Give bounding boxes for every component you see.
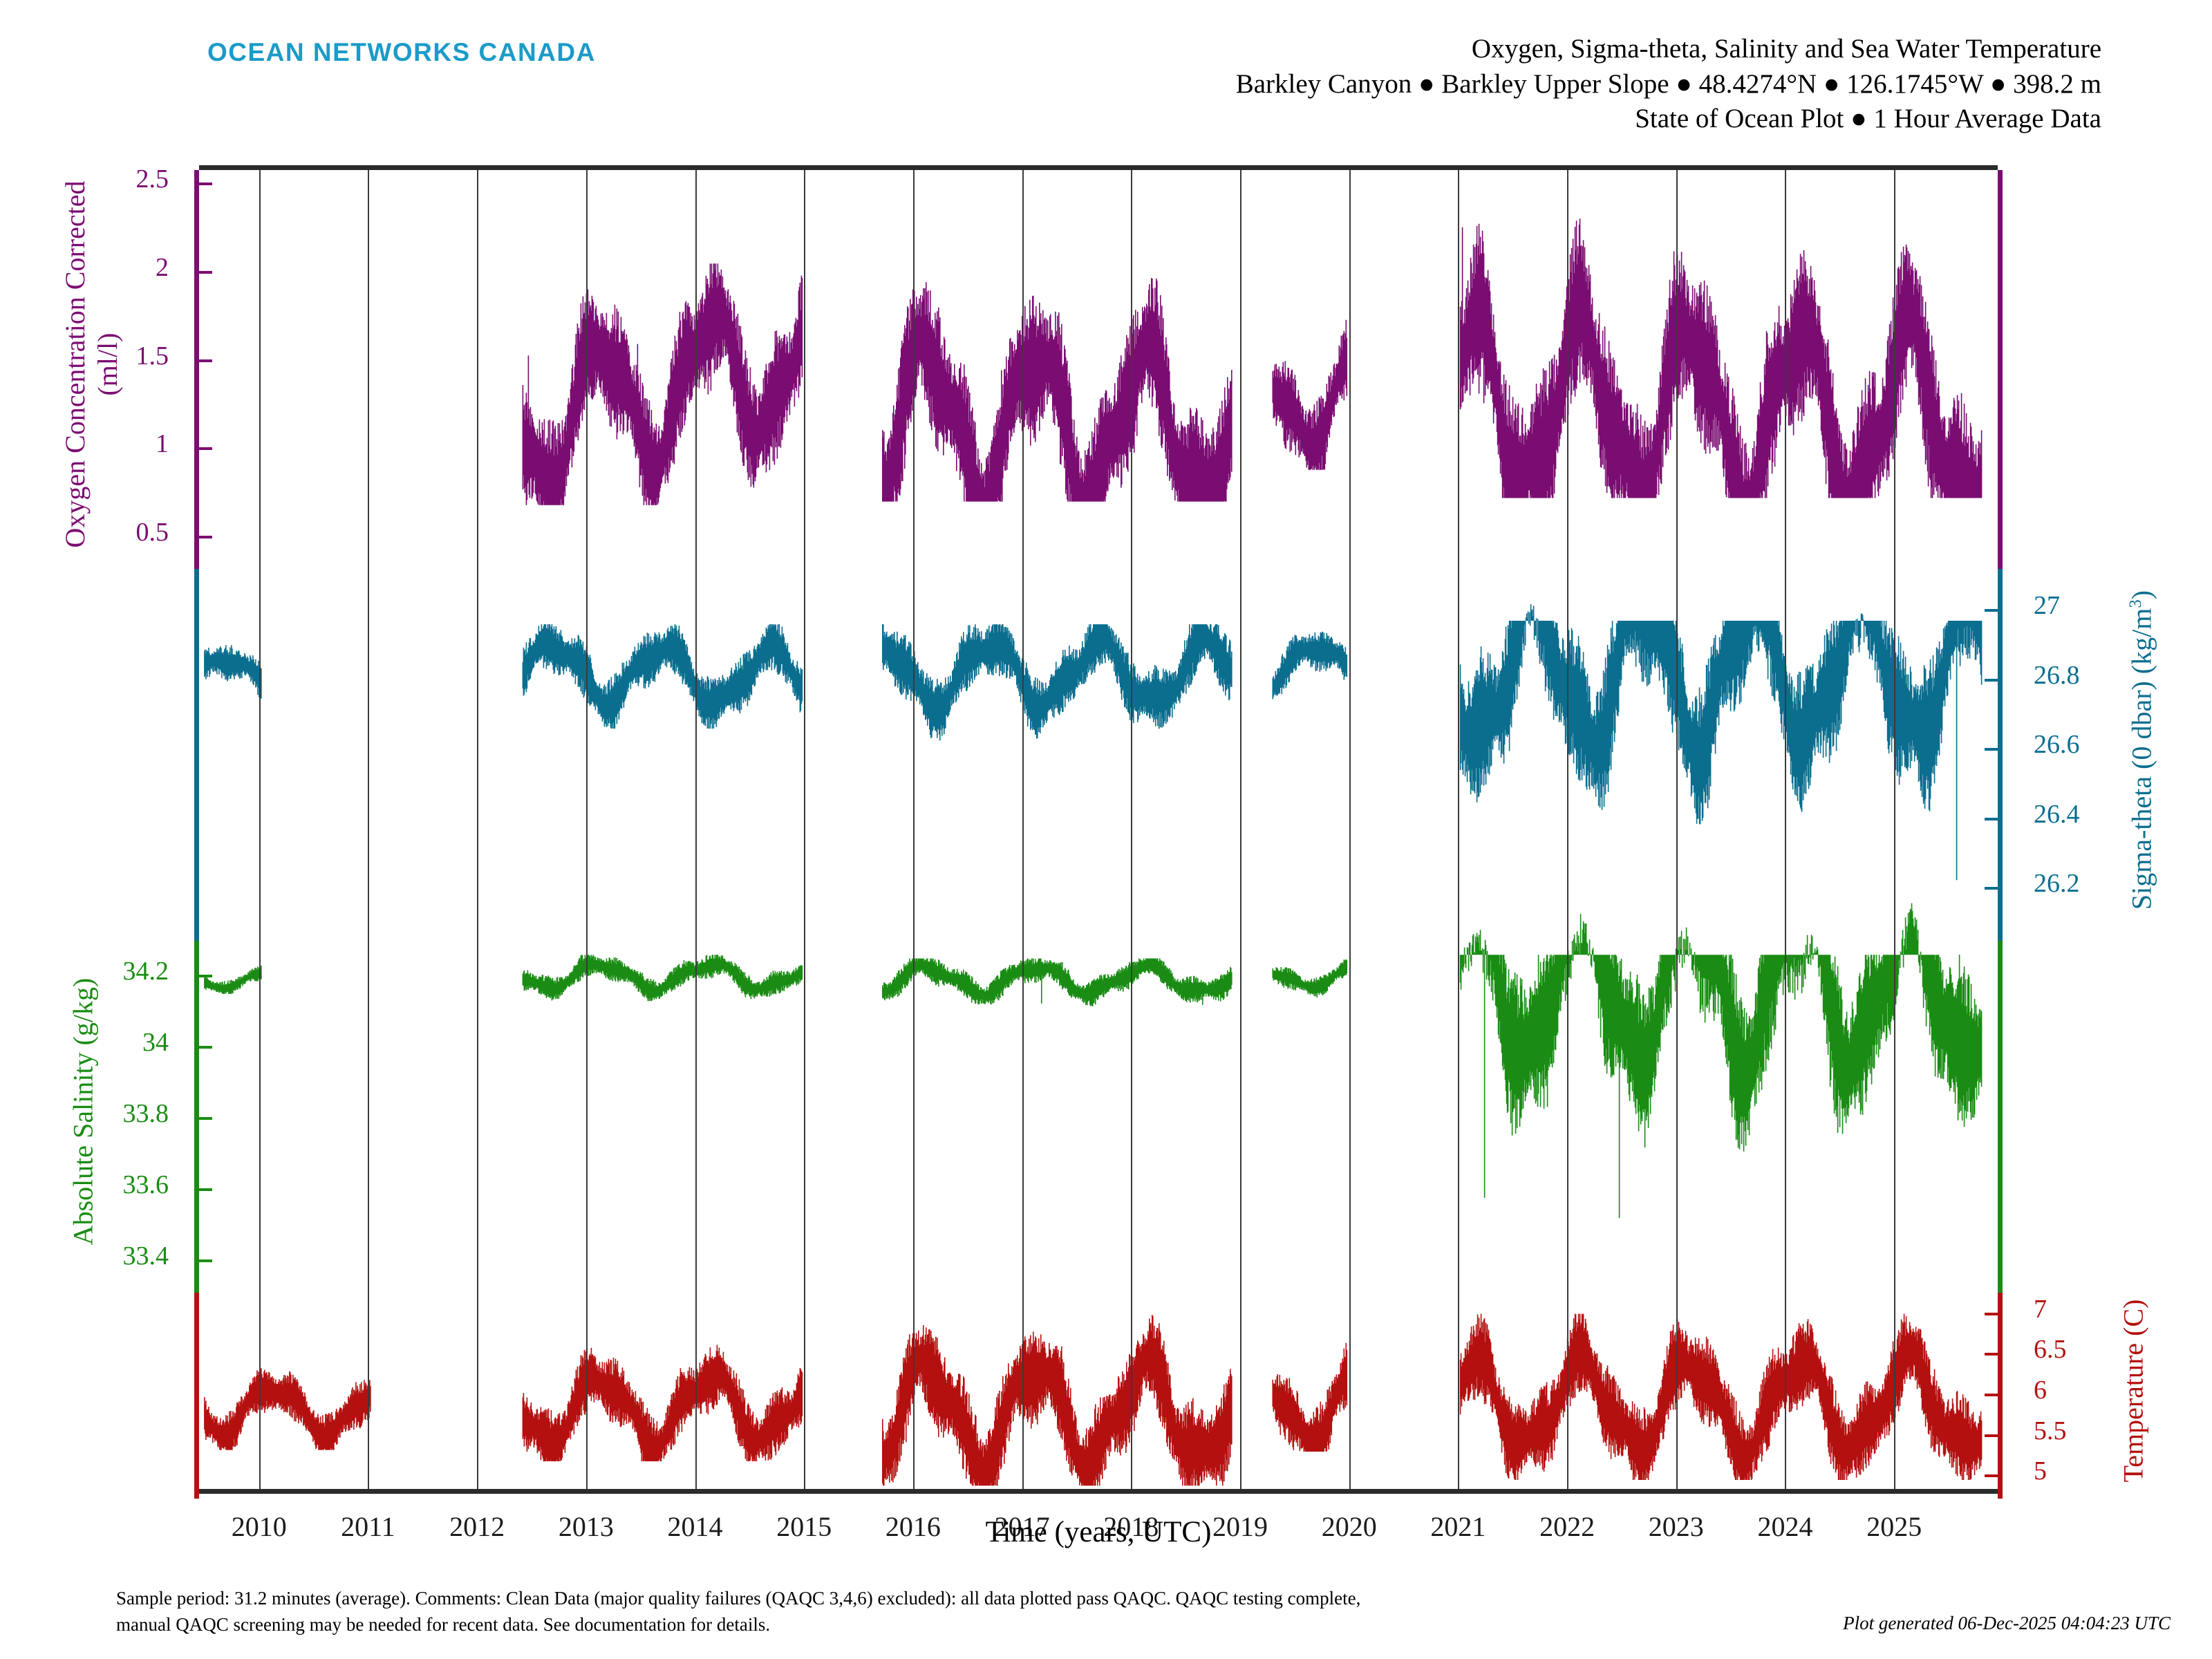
- tick-temperature-6: [1985, 1394, 2003, 1396]
- year-gridline-2014: [695, 170, 697, 1489]
- tick-label-sigma_theta-26.8: 26.8: [2034, 660, 2080, 691]
- segment-sigma_theta-2: [883, 624, 1232, 740]
- tick-sigma_theta-26.6: [1985, 748, 2003, 751]
- year-gridline-2012: [477, 170, 478, 1489]
- year-gridline-2021: [1458, 170, 1459, 1489]
- plot-title-line1: Oxygen, Sigma-theta, Salinity and Sea Wa…: [1236, 32, 2101, 67]
- spine-left-sigma_theta: [194, 569, 199, 941]
- year-gridline-2010: [259, 170, 261, 1489]
- tick-oxygen-0.5: [194, 536, 212, 538]
- plot-title-line3: State of Ocean Plot ● 1 Hour Average Dat…: [1236, 102, 2101, 137]
- tick-label-temperature-6: 6: [2034, 1375, 2047, 1405]
- year-gridline-2024: [1785, 170, 1786, 1489]
- tick-salinity-33.6: [194, 1188, 212, 1191]
- tick-sigma_theta-26.4: [1985, 818, 2003, 821]
- tick-salinity-34.2: [194, 975, 212, 977]
- tick-temperature-5.5: [1985, 1434, 2003, 1437]
- x-tick-label-2016: 2016: [885, 1510, 941, 1543]
- series-salinity: [205, 903, 1982, 1219]
- segment-temperature-4: [1461, 1314, 1982, 1480]
- x-tick-label-2024: 2024: [1757, 1510, 1812, 1543]
- axis-title-oxygen: Oxygen Concentration Corrected(ml/l): [59, 181, 124, 548]
- tick-label-sigma_theta-27: 27: [2034, 590, 2060, 621]
- year-gridline-2023: [1676, 170, 1678, 1489]
- series-oxygen: [523, 218, 1981, 505]
- year-gridline-2025: [1894, 170, 1895, 1489]
- tick-sigma_theta-27: [1985, 609, 2003, 612]
- tick-label-sigma_theta-26.2: 26.2: [2034, 868, 2080, 899]
- segment-oxygen-1: [883, 278, 1232, 501]
- x-tick-label-2019: 2019: [1212, 1510, 1268, 1543]
- segment-salinity-0: [205, 966, 261, 994]
- tick-oxygen-1.5: [194, 359, 212, 362]
- plot-area: [199, 165, 1998, 1494]
- tick-temperature-5: [1985, 1474, 2003, 1477]
- segment-oxygen-3: [1461, 218, 1982, 498]
- tick-oxygen-2: [194, 271, 212, 274]
- x-tick-label-2021: 2021: [1430, 1510, 1485, 1543]
- year-gridline-2018: [1131, 170, 1132, 1489]
- segment-oxygen-2: [1273, 320, 1347, 470]
- spine-right-sigma_theta: [1998, 569, 2003, 941]
- tick-temperature-7: [1985, 1313, 2003, 1315]
- generated-timestamp: Plot generated 06-Dec-2025 04:04:23 UTC: [1843, 1613, 2171, 1634]
- tick-salinity-33.4: [194, 1259, 212, 1262]
- spine-left-oxygen: [194, 170, 199, 569]
- segment-sigma_theta-1: [523, 624, 802, 729]
- axis-title-sigma_theta: Sigma-theta (0 dbar) (kg/m3): [2126, 590, 2158, 910]
- year-gridline-2020: [1349, 170, 1351, 1489]
- series-temperature: [205, 1314, 1982, 1486]
- segment-salinity-2: [883, 959, 1232, 1006]
- year-gridline-2017: [1022, 170, 1024, 1489]
- x-tick-label-2020: 2020: [1322, 1510, 1377, 1543]
- plot-title-block: Oxygen, Sigma-theta, Salinity and Sea Wa…: [1236, 32, 2101, 137]
- segment-sigma_theta-0: [205, 645, 261, 699]
- segment-oxygen-0: [523, 263, 802, 505]
- year-gridline-2011: [368, 170, 369, 1489]
- x-tick-label-2013: 2013: [559, 1510, 614, 1543]
- onc-logo: OCEAN NETWORKS CANADA: [207, 38, 596, 67]
- x-tick-label-2025: 2025: [1866, 1510, 1922, 1543]
- segment-salinity-3: [1273, 959, 1347, 997]
- x-tick-label-2015: 2015: [776, 1510, 832, 1543]
- axis-title-temperature: Temperature (C): [2117, 1300, 2150, 1483]
- tick-label-sigma_theta-26.4: 26.4: [2034, 799, 2080, 829]
- series-sigma_theta: [205, 604, 1982, 880]
- tick-label-temperature-7: 7: [2034, 1294, 2047, 1324]
- x-tick-label-2023: 2023: [1649, 1510, 1704, 1543]
- tick-salinity-33.8: [194, 1117, 212, 1120]
- segment-salinity-1: [523, 955, 802, 1001]
- spine-left-temperature: [194, 1293, 199, 1499]
- segment-salinity-4: [1461, 903, 1982, 1219]
- x-tick-label-2011: 2011: [341, 1510, 395, 1543]
- data-series-canvas: [199, 170, 1998, 1499]
- segment-temperature-2: [883, 1315, 1232, 1485]
- axis-title-salinity: Absolute Salinity (g/kg): [67, 978, 100, 1246]
- x-tick-label-2014: 2014: [668, 1510, 723, 1543]
- plot-title-line2: Barkley Canyon ● Barkley Upper Slope ● 4…: [1236, 67, 2101, 102]
- year-gridline-2015: [804, 170, 805, 1489]
- tick-salinity-34: [194, 1046, 212, 1049]
- spine-right-oxygen: [1998, 170, 2003, 569]
- year-gridline-2022: [1567, 170, 1568, 1489]
- footer-line-1: Sample period: 31.2 minutes (average). C…: [116, 1585, 1360, 1611]
- spine-right-salinity: [1998, 941, 2003, 1293]
- x-tick-label-2022: 2022: [1539, 1510, 1595, 1543]
- tick-oxygen-2.5: [194, 182, 212, 185]
- segment-temperature-3: [1273, 1343, 1347, 1452]
- tick-label-salinity-33.4: 33.4: [0, 1241, 169, 1271]
- year-gridline-2016: [913, 170, 915, 1489]
- x-axis-title: Time (years, UTC): [986, 1515, 1212, 1549]
- footer-note: Sample period: 31.2 minutes (average). C…: [116, 1585, 1360, 1638]
- x-tick-label-2010: 2010: [232, 1510, 287, 1543]
- segment-temperature-0: [205, 1368, 371, 1450]
- footer-line-2: manual QAQC screening may be needed for …: [116, 1611, 1360, 1638]
- year-gridline-2013: [586, 170, 588, 1489]
- x-tick-label-2012: 2012: [449, 1510, 505, 1543]
- tick-temperature-6.5: [1985, 1353, 2003, 1356]
- tick-label-temperature-5: 5: [2034, 1456, 2047, 1486]
- segment-sigma_theta-3: [1273, 632, 1347, 700]
- year-gridline-2019: [1240, 170, 1241, 1489]
- tick-oxygen-1: [194, 447, 212, 450]
- tick-sigma_theta-26.8: [1985, 679, 2003, 682]
- tick-sigma_theta-26.2: [1985, 887, 2003, 890]
- segment-temperature-1: [523, 1344, 802, 1461]
- tick-label-sigma_theta-26.6: 26.6: [2034, 729, 2080, 760]
- segment-sigma_theta-4: [1461, 604, 1982, 880]
- tick-label-temperature-5.5: 5.5: [2034, 1416, 2067, 1446]
- tick-label-temperature-6.5: 6.5: [2034, 1334, 2067, 1365]
